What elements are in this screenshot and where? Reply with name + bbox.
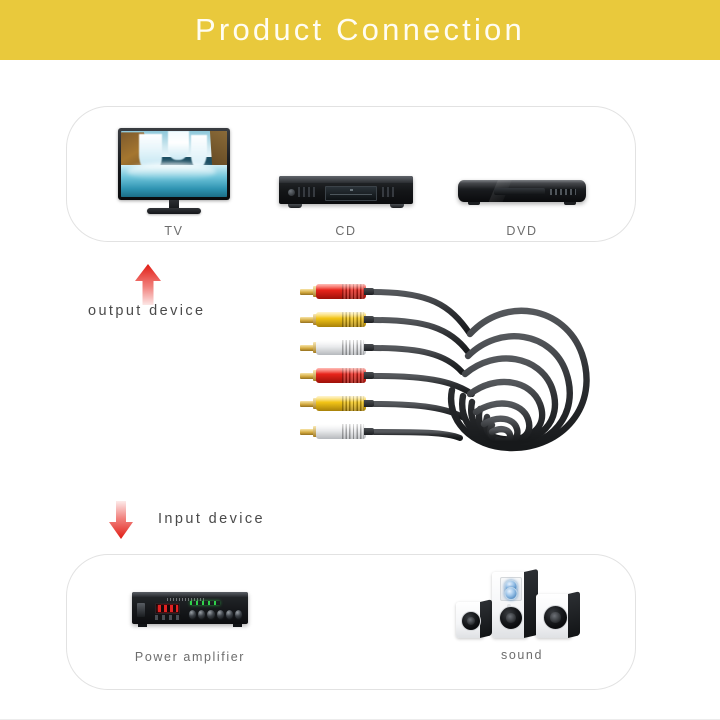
- tv-bezel: [118, 128, 230, 200]
- amplifier-display: [155, 603, 180, 614]
- dvd-player-icon: [452, 128, 592, 220]
- device-label-power-amplifier: Power amplifier: [120, 650, 260, 664]
- rca-pin-icon: [300, 289, 317, 295]
- device-cd: CD: [276, 128, 416, 220]
- device-tv: TV: [108, 128, 240, 220]
- cd-player-body: [279, 176, 413, 204]
- amplifier-body: [132, 592, 248, 624]
- cd-player-icon: [276, 128, 416, 220]
- device-label-sound: sound: [452, 648, 592, 662]
- tv-waterfall-scene: [121, 131, 227, 197]
- rca-pin-icon: [300, 401, 317, 407]
- speaker-system-icon: [452, 566, 592, 638]
- subwoofer-speaker: [492, 572, 528, 638]
- amplifier-power-switch: [137, 603, 145, 617]
- rca-pin-icon: [300, 345, 317, 351]
- input-arrow-down-icon: [104, 500, 138, 540]
- device-label-cd: CD: [276, 224, 416, 238]
- input-device-label: Input device: [158, 511, 358, 527]
- television-icon: [110, 128, 238, 220]
- device-sound: sound: [452, 566, 592, 638]
- satellite-speaker-left: [456, 602, 484, 638]
- amplifier-led-row: [190, 601, 220, 605]
- rca-cable-assembly: [300, 276, 620, 516]
- rca-pin-icon: [300, 429, 317, 435]
- output-arrow-up-icon: [128, 262, 168, 306]
- tv-screen: [121, 131, 227, 197]
- amplifier-knob-row: [188, 608, 244, 621]
- device-label-dvd: DVD: [452, 224, 592, 238]
- device-label-tv: TV: [108, 224, 240, 238]
- rca-pin-icon: [300, 373, 317, 379]
- subwoofer-control-panel: [500, 577, 522, 601]
- output-device-label: output device: [88, 303, 268, 319]
- device-dvd: DVD: [452, 128, 592, 220]
- dvd-disc-slot: [494, 188, 545, 194]
- bass-dial-icon: [504, 587, 517, 600]
- product-connection-diagram: Product Connection: [0, 0, 720, 720]
- power-amplifier-icon: [120, 576, 260, 638]
- satellite-speaker-right: [536, 594, 572, 638]
- tv-stand-base: [147, 208, 201, 214]
- page-title: Product Connection: [195, 12, 525, 48]
- rca-pin-icon: [300, 317, 317, 323]
- cd-disc-tray: [325, 186, 378, 201]
- device-power-amplifier: Power amplifier: [120, 576, 260, 638]
- page-header: Product Connection: [0, 0, 720, 60]
- dvd-player-body: [458, 180, 586, 202]
